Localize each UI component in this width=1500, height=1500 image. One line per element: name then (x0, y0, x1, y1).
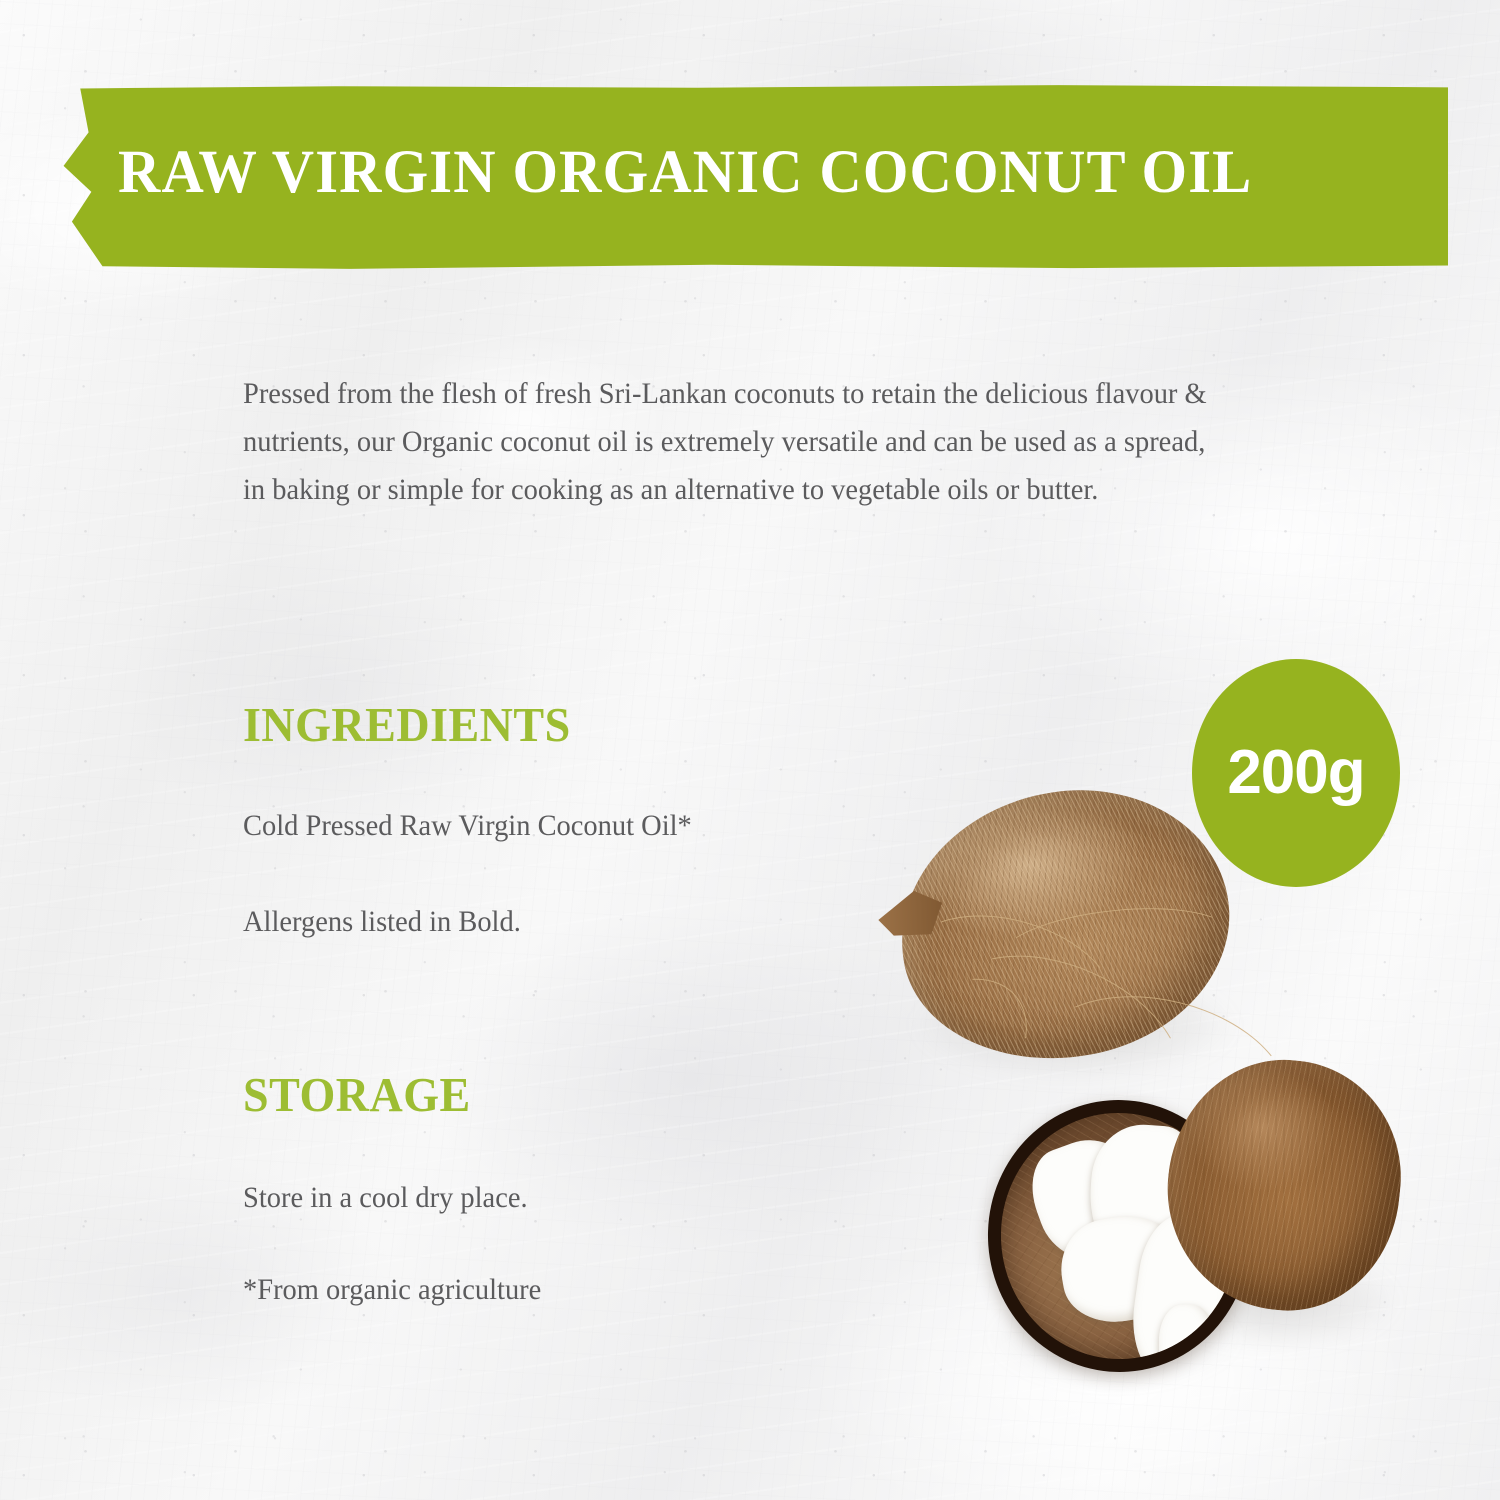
storage-heading: STORAGE (243, 1066, 471, 1123)
whole-coconut (1156, 1049, 1413, 1322)
allergens-note: Allergens listed in Bold. (243, 906, 521, 939)
coconut-grain-texture (1156, 1049, 1413, 1322)
product-label-page: RAW VIRGIN ORGANIC COCONUT OIL Pressed f… (0, 0, 1500, 1500)
storage-instructions: Store in a cool dry place. (243, 1182, 528, 1215)
page-title: RAW VIRGIN ORGANIC COCONUT OIL (118, 138, 1376, 208)
product-description-text: Pressed from the flesh of fresh Sri-Lank… (243, 370, 1218, 514)
coconut-product-photo (880, 770, 1400, 1380)
ingredients-heading: INGREDIENTS (243, 696, 571, 753)
organic-footnote: *From organic agriculture (243, 1274, 541, 1307)
product-description: Pressed from the flesh of fresh Sri-Lank… (243, 370, 1218, 514)
ingredients-list: Cold Pressed Raw Virgin Coconut Oil* (243, 810, 692, 843)
